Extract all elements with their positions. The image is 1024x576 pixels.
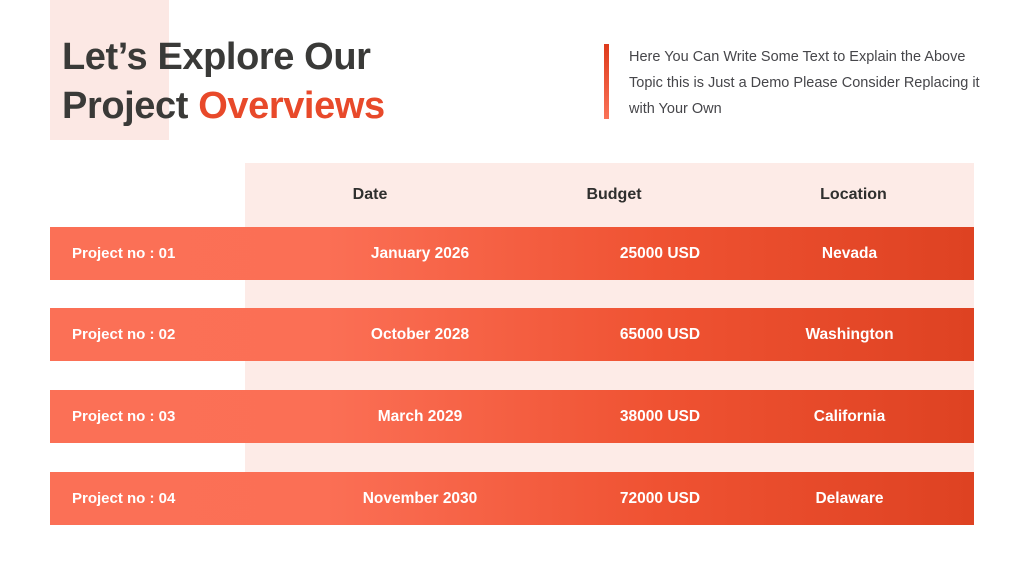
- column-header-location: Location: [733, 186, 974, 204]
- project-overview-table: Date Budget Location Project no : 01 Jan…: [0, 0, 1024, 576]
- row-location: California: [725, 390, 974, 443]
- row-location: Nevada: [725, 227, 974, 280]
- row-project-label: Project no : 03: [72, 390, 175, 443]
- table-row[interactable]: Project no : 03 March 2029 38000 USD Cal…: [50, 390, 974, 443]
- row-location: Delaware: [725, 472, 974, 525]
- row-project-label: Project no : 01: [72, 227, 175, 280]
- row-date: January 2026: [245, 227, 595, 280]
- row-budget: 38000 USD: [595, 390, 725, 443]
- row-date: October 2028: [245, 308, 595, 361]
- row-date: November 2030: [245, 472, 595, 525]
- row-project-label: Project no : 02: [72, 308, 175, 361]
- row-location: Washington: [725, 308, 974, 361]
- row-budget: 65000 USD: [595, 308, 725, 361]
- column-header-budget: Budget: [495, 186, 733, 204]
- column-header-date: Date: [245, 186, 495, 204]
- row-budget: 72000 USD: [595, 472, 725, 525]
- table-row[interactable]: Project no : 01 January 2026 25000 USD N…: [50, 227, 974, 280]
- row-project-label: Project no : 04: [72, 472, 175, 525]
- table-row[interactable]: Project no : 04 November 2030 72000 USD …: [50, 472, 974, 525]
- table-header-row: Date Budget Location: [245, 163, 974, 227]
- row-budget: 25000 USD: [595, 227, 725, 280]
- table-row[interactable]: Project no : 02 October 2028 65000 USD W…: [50, 308, 974, 361]
- row-date: March 2029: [245, 390, 595, 443]
